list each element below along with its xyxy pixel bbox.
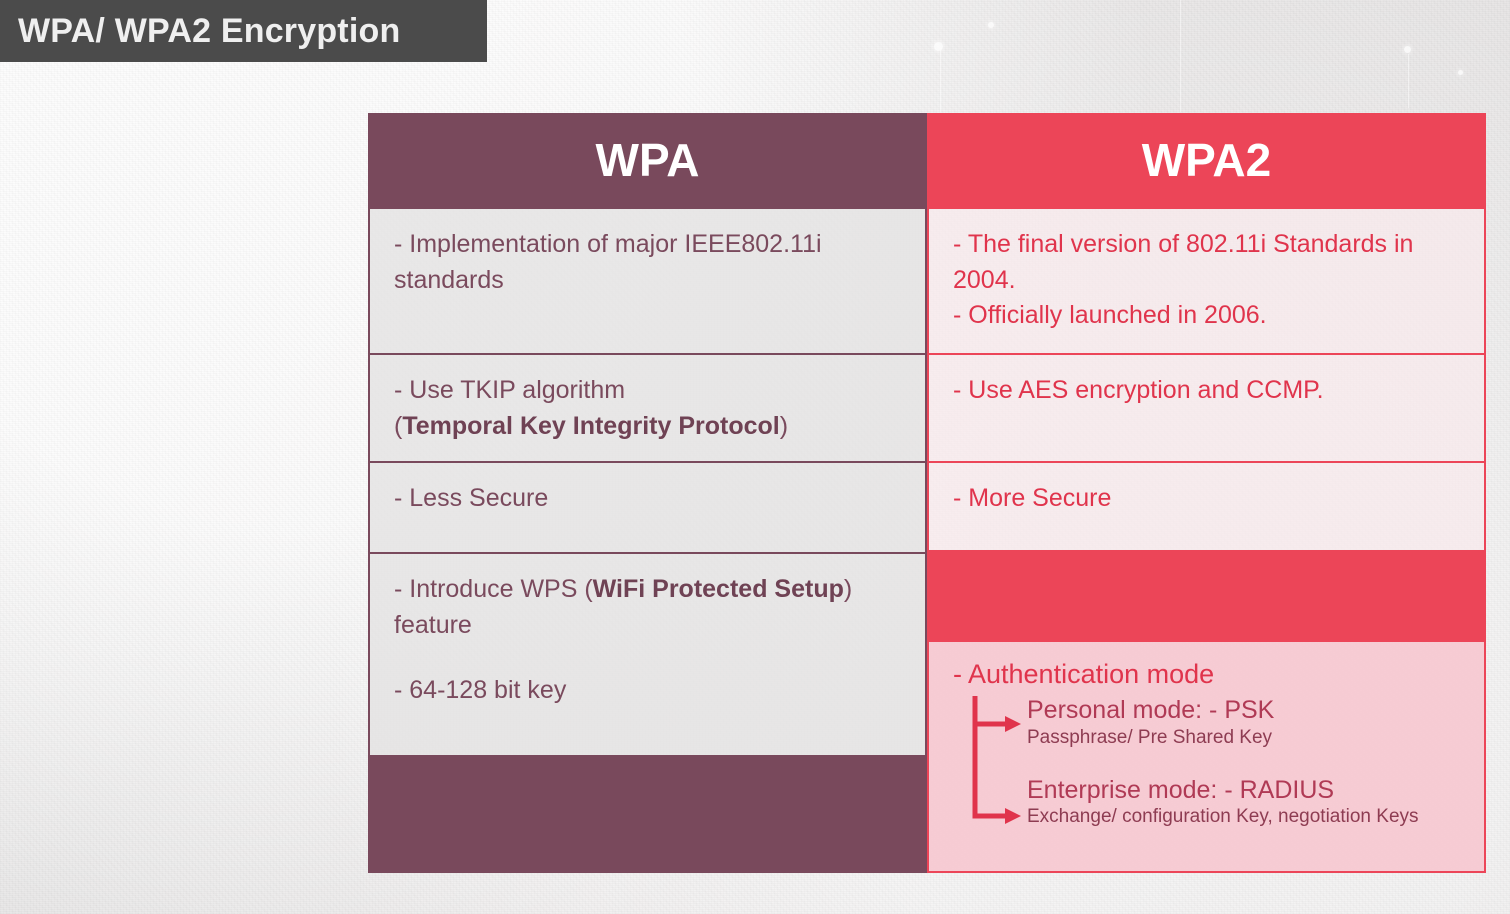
authentication-mode-item-label: Personal mode: - PSK	[1027, 696, 1462, 726]
cell-text-run: - 64-128 bit key	[394, 676, 566, 704]
table-row: - The final version of 802.11i Standards…	[927, 207, 1486, 353]
table-row: - Less Secure	[368, 461, 927, 552]
left-footer-block	[368, 757, 927, 873]
table-row: - More Secure	[927, 461, 1486, 552]
decorative-circuit-line	[940, 50, 941, 112]
cell-text-run: - The final version of 802.11i Standards…	[953, 230, 1413, 294]
cell-text-line: - Implementation of major IEEE802.11i st…	[394, 227, 903, 298]
cell-text-line: - Less Secure	[394, 481, 903, 517]
cell-text-run: - Use TKIP algorithm	[394, 376, 625, 404]
table-row: - Implementation of major IEEE802.11i st…	[368, 207, 927, 353]
authentication-mode-item-sub: Exchange/ configuration Key, negotiation…	[1027, 805, 1462, 829]
column-header-wpa: WPA	[368, 113, 927, 207]
cell-text-run: - Officially launched in 2006.	[953, 301, 1267, 329]
cell-text-run-bold: Temporal Key Integrity Protocol	[402, 412, 779, 440]
cell-text-spacer	[394, 643, 903, 673]
decorative-circuit-dot	[988, 22, 994, 28]
branch-bracket-arrows-icon	[971, 696, 1029, 824]
cell-text-line: - Introduce WPS (WiFi Protected Setup) f…	[394, 572, 903, 643]
table-column-wpa: WPA - Implementation of major IEEE802.11…	[368, 113, 927, 873]
table-row: - Use TKIP algorithm (Temporal Key Integ…	[368, 353, 927, 461]
cell-text-line: - Use AES encryption and CCMP.	[953, 373, 1462, 409]
decorative-circuit-dot	[1404, 46, 1411, 53]
decorative-circuit-line	[1180, 0, 1181, 112]
cell-text-line: - Use TKIP algorithm	[394, 373, 903, 409]
authentication-mode-item: Enterprise mode: - RADIUS Exchange/ conf…	[1027, 776, 1462, 829]
cell-text-run-bold: WiFi Protected Setup	[593, 575, 844, 603]
cell-text-line: (Temporal Key Integrity Protocol)	[394, 409, 903, 445]
authentication-mode-body: Personal mode: - PSK Passphrase/ Pre Sha…	[953, 696, 1462, 829]
column-header-wpa2: WPA2	[927, 113, 1486, 207]
cell-text-line: - Officially launched in 2006.	[953, 298, 1462, 334]
cell-text-run: - More Secure	[953, 484, 1111, 512]
slide-title-bar: WPA/ WPA2 Encryption	[0, 0, 487, 62]
cell-text-line: - More Secure	[953, 481, 1462, 517]
decorative-circuit-dot	[1458, 70, 1463, 75]
table-column-wpa2: WPA2 - The final version of 802.11i Stan…	[927, 113, 1486, 873]
decorative-circuit-dot	[934, 42, 943, 51]
authentication-items-spacer	[1027, 750, 1462, 776]
wpa-comparison-table: WPA - Implementation of major IEEE802.11…	[368, 113, 1486, 873]
cell-text-run: - Less Secure	[394, 484, 548, 512]
authentication-mode-item: Personal mode: - PSK Passphrase/ Pre Sha…	[1027, 696, 1462, 749]
authentication-mode-item-label: Enterprise mode: - RADIUS	[1027, 776, 1462, 806]
authentication-mode-cell: - Authentication mode Personal mode: - P…	[927, 640, 1486, 873]
cell-text-run: - Introduce WPS (	[394, 575, 593, 603]
cell-text-line: - 64-128 bit key	[394, 673, 903, 709]
authentication-mode-item-sub: Passphrase/ Pre Shared Key	[1027, 726, 1462, 750]
cell-text-run: - Implementation of major IEEE802.11i st…	[394, 230, 822, 294]
cell-text-run: )	[780, 412, 788, 440]
table-row: - Use AES encryption and CCMP.	[927, 353, 1486, 461]
right-spacer-block	[927, 552, 1486, 640]
cell-text-run: - Use AES encryption and CCMP.	[953, 376, 1324, 404]
column-header-wpa-label: WPA	[596, 133, 700, 187]
column-header-wpa2-label: WPA2	[1142, 133, 1272, 187]
cell-text-line: - The final version of 802.11i Standards…	[953, 227, 1462, 298]
table-row: - Introduce WPS (WiFi Protected Setup) f…	[368, 552, 927, 757]
decorative-circuit-line	[1408, 54, 1409, 108]
authentication-mode-title: - Authentication mode	[953, 658, 1462, 690]
page-title: WPA/ WPA2 Encryption	[0, 12, 400, 51]
